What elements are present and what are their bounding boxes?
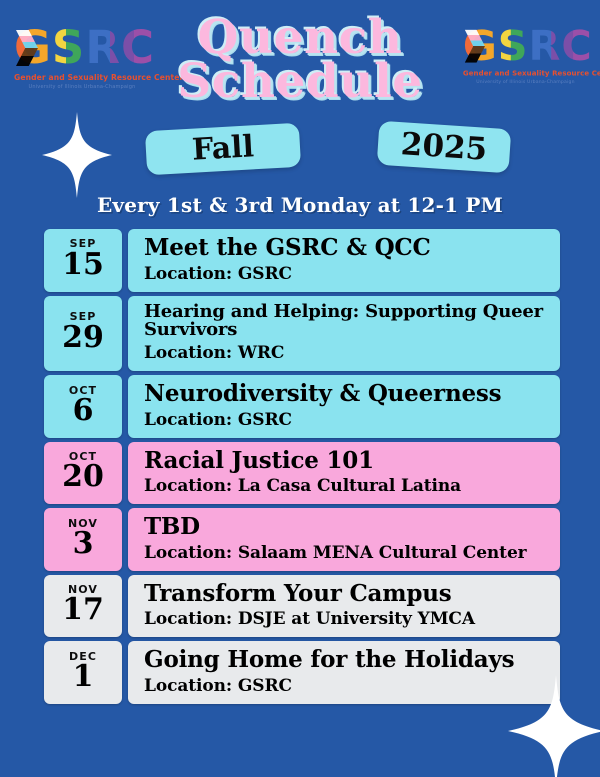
event-cell: Neurodiversity & QueernessLocation: GSRC	[128, 375, 560, 438]
schedule-row: SEP15Meet the GSRC & QCCLocation: GSRC	[44, 229, 560, 292]
event-title: Racial Justice 101	[144, 449, 560, 473]
title-line-2: Schedule	[0, 60, 600, 104]
schedule-row: SEP29Hearing and Helping: Supporting Que…	[44, 296, 560, 372]
schedule-list: SEP15Meet the GSRC & QCCLocation: GSRCSE…	[44, 229, 560, 708]
year-chip: 2025	[377, 121, 512, 174]
date-day: 17	[62, 595, 104, 626]
event-title: Going Home for the Holidays	[144, 648, 560, 672]
recurrence-text: Every 1st & 3rd Monday at 12-1 PM	[0, 193, 600, 217]
schedule-row: NOV3TBDLocation: Salaam MENA Cultural Ce…	[44, 508, 560, 571]
flyer-header: GSRC Gender and Sexuality Resource Cente…	[0, 0, 600, 230]
date-day: 29	[62, 323, 104, 354]
date-day: 20	[62, 462, 104, 493]
event-cell: Meet the GSRC & QCCLocation: GSRC	[128, 229, 560, 292]
schedule-row: OCT20Racial Justice 101Location: La Casa…	[44, 442, 560, 505]
date-cell: NOV17	[44, 575, 122, 638]
date-cell: SEP15	[44, 229, 122, 292]
schedule-row: NOV17Transform Your CampusLocation: DSJE…	[44, 575, 560, 638]
event-location: Location: La Casa Cultural Latina	[144, 478, 560, 496]
event-location: Location: WRC	[144, 345, 560, 363]
sparkle-star-icon	[42, 112, 112, 198]
page-title: Quench Schedule	[0, 16, 600, 104]
event-title: Meet the GSRC & QCC	[144, 236, 560, 260]
event-cell: Hearing and Helping: Supporting Queer Su…	[128, 296, 560, 372]
date-day: 6	[73, 396, 94, 427]
date-cell: NOV3	[44, 508, 122, 571]
date-day: 15	[62, 250, 104, 281]
date-day: 3	[73, 529, 94, 560]
event-cell: TBDLocation: Salaam MENA Cultural Center	[128, 508, 560, 571]
event-title: Neurodiversity & Queerness	[144, 382, 560, 406]
event-title: Hearing and Helping: Supporting Queer Su…	[144, 303, 560, 340]
event-location: Location: Salaam MENA Cultural Center	[144, 545, 560, 563]
event-title: TBD	[144, 515, 560, 539]
schedule-row: OCT6Neurodiversity & QueernessLocation: …	[44, 375, 560, 438]
event-title: Transform Your Campus	[144, 582, 560, 606]
date-cell: OCT20	[44, 442, 122, 505]
event-cell: Racial Justice 101Location: La Casa Cult…	[128, 442, 560, 505]
event-cell: Going Home for the HolidaysLocation: GSR…	[128, 641, 560, 704]
season-chip: Fall	[145, 123, 301, 176]
date-day: 1	[73, 662, 94, 693]
date-cell: OCT6	[44, 375, 122, 438]
event-cell: Transform Your CampusLocation: DSJE at U…	[128, 575, 560, 638]
event-location: Location: GSRC	[144, 678, 560, 696]
schedule-row: DEC1Going Home for the HolidaysLocation:…	[44, 641, 560, 704]
event-location: Location: DSJE at University YMCA	[144, 611, 560, 629]
event-location: Location: GSRC	[144, 266, 560, 284]
event-location: Location: GSRC	[144, 412, 560, 430]
date-cell: SEP29	[44, 296, 122, 372]
date-cell: DEC1	[44, 641, 122, 704]
